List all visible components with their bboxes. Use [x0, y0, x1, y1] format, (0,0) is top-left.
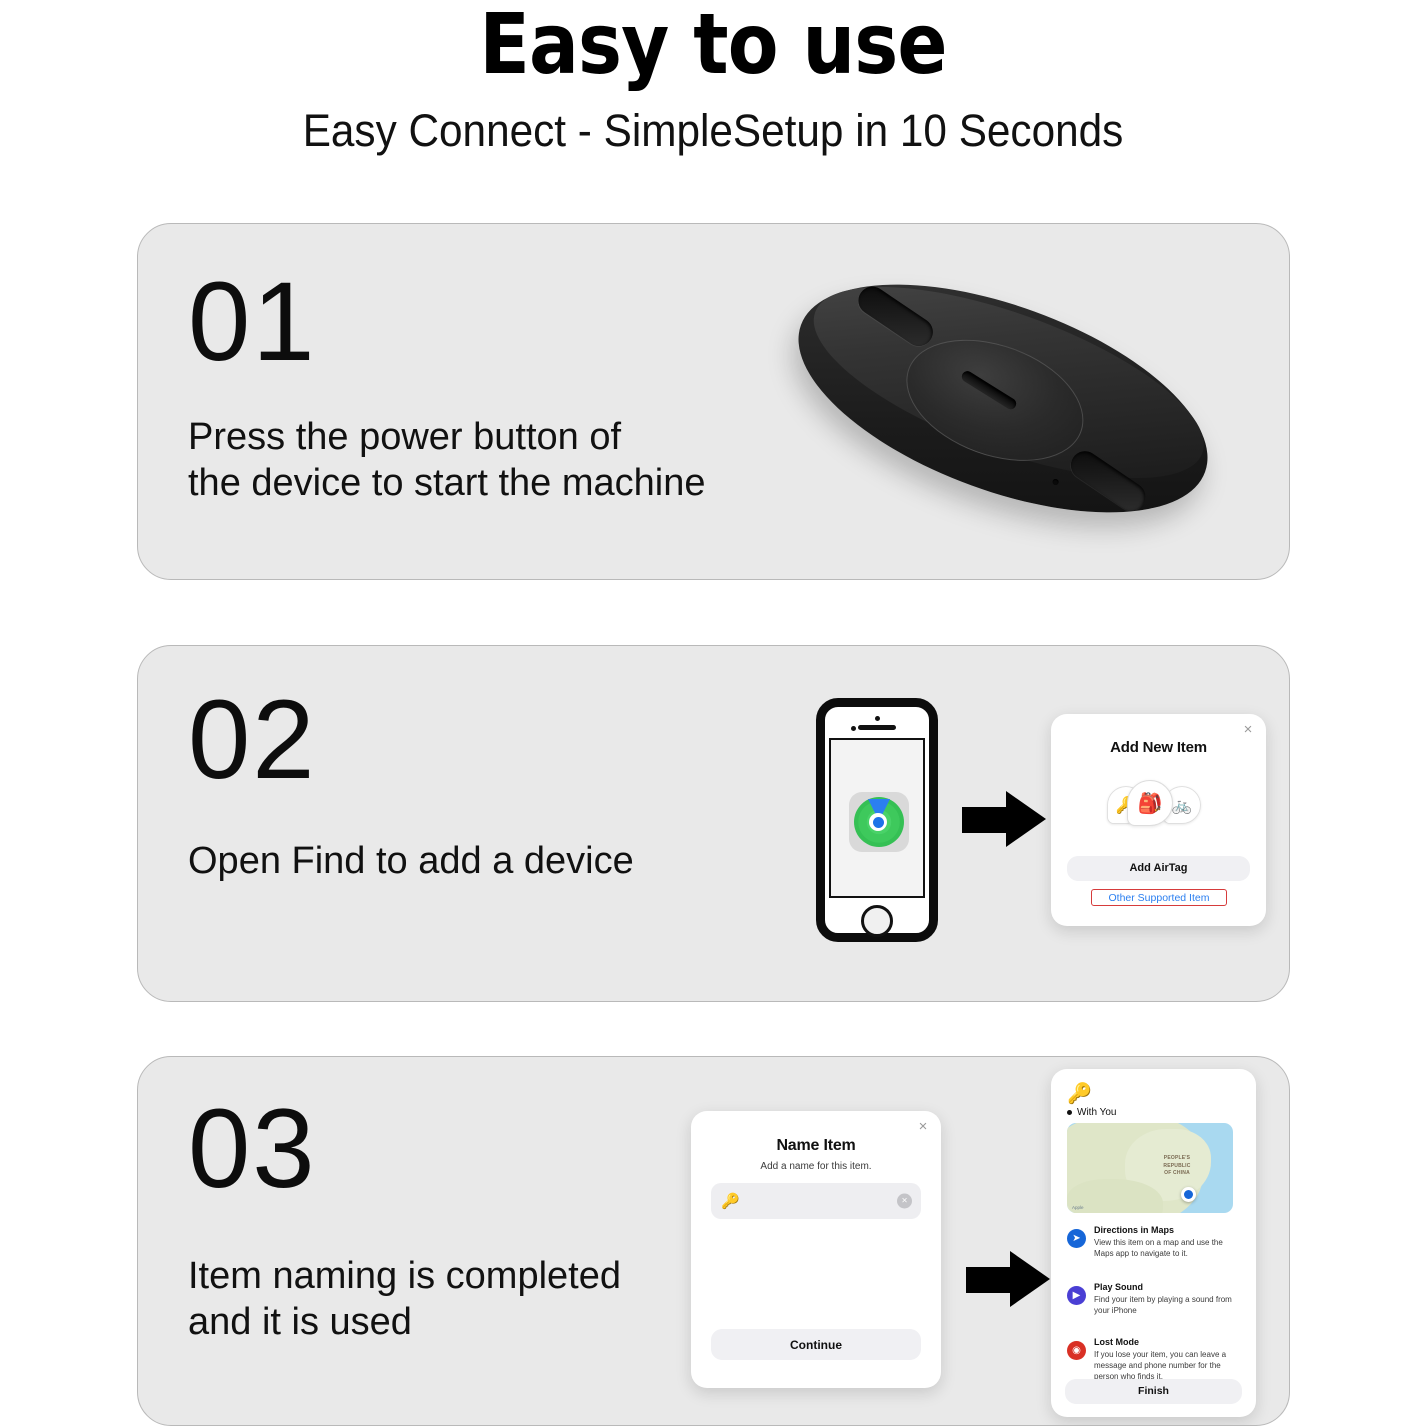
- page-subtitle: Easy Connect - SimpleSetup in 10 Seconds: [43, 86, 1383, 153]
- item-name-input[interactable]: 🔑 ×: [711, 1183, 921, 1219]
- step-number-3: 03: [188, 1093, 317, 1205]
- play-sound-icon: ▶: [1067, 1286, 1086, 1305]
- directions-icon: ➤: [1067, 1229, 1086, 1248]
- continue-button[interactable]: Continue: [711, 1329, 921, 1360]
- feature-title: Directions in Maps: [1094, 1225, 1174, 1235]
- arrow-step2: [962, 791, 1046, 847]
- feature-body: If you lose your item, you can leave a m…: [1094, 1349, 1242, 1382]
- status-dot-icon: [1067, 1110, 1072, 1115]
- close-icon[interactable]: ×: [1241, 723, 1255, 737]
- clear-input-icon[interactable]: ×: [897, 1194, 912, 1209]
- close-icon[interactable]: ×: [916, 1120, 930, 1134]
- phone-camera-icon: [875, 716, 880, 721]
- arrow-shaft: [962, 807, 1010, 833]
- phone-speaker-icon: [858, 725, 896, 730]
- feature-body: Find your item by playing a sound from y…: [1094, 1294, 1242, 1316]
- tracker-speaker-hole: [1052, 478, 1060, 486]
- page-root: Easy to use Easy Connect - SimpleSetup i…: [0, 0, 1426, 1426]
- phone-sensor-icon: [851, 726, 856, 731]
- step-number-1: 01: [188, 266, 317, 378]
- step-text-3: Item naming is completed and it is used: [188, 1253, 621, 1346]
- key-icon: 🔑: [721, 1192, 740, 1210]
- item-type-badges: 🔑 🎒 🚲: [1051, 780, 1266, 828]
- arrow-head: [1006, 791, 1046, 847]
- phone-mockup: [816, 698, 938, 942]
- tracker-slot-bottom: [1065, 446, 1150, 516]
- find-my-center-dot: [869, 813, 887, 831]
- phone-screen: [829, 738, 925, 898]
- arrow-step3: [966, 1251, 1050, 1307]
- map-location-pin: [1181, 1187, 1196, 1202]
- item-key-icon: 🔑: [1067, 1081, 1092, 1106]
- step-card-2: 02 Open Find to add a device × Add: [137, 645, 1290, 1002]
- step-card-1: 01 Press the power button of the device …: [137, 223, 1290, 580]
- item-status-label: With You: [1067, 1107, 1116, 1118]
- map-region-label: PEOPLE'S REPUBLIC OF CHINA: [1153, 1155, 1201, 1178]
- arrow-shaft: [966, 1267, 1014, 1293]
- name-item-sheet: × Name Item Add a name for this item. 🔑 …: [691, 1111, 941, 1388]
- phone-home-button[interactable]: [861, 905, 893, 937]
- backpack-badge-icon[interactable]: 🎒: [1127, 780, 1173, 826]
- tracker-slot-top: [853, 281, 938, 351]
- add-item-title: Add New Item: [1051, 739, 1266, 756]
- name-item-subtitle: Add a name for this item.: [691, 1161, 941, 1172]
- feature-title: Play Sound: [1094, 1282, 1143, 1292]
- finish-button[interactable]: Finish: [1065, 1379, 1242, 1404]
- name-item-title: Name Item: [691, 1137, 941, 1155]
- feature-title: Lost Mode: [1094, 1337, 1139, 1347]
- add-new-item-sheet: × Add New Item 🔑 🎒 🚲 Add AirTag Other Su…: [1051, 714, 1266, 926]
- arrow-head: [1010, 1251, 1050, 1307]
- step-text-1: Press the power button of the device to …: [188, 414, 706, 507]
- item-detail-sheet: 🔑 With You PEOPLE'S REPUBLIC OF CHINA Ap…: [1051, 1069, 1256, 1417]
- page-title: Easy to use: [86, 0, 1341, 86]
- tracker-device-illustration: [748, 234, 1268, 579]
- map-credit-label: Apple: [1072, 1205, 1084, 1210]
- item-location-map[interactable]: PEOPLE'S REPUBLIC OF CHINA Apple: [1067, 1123, 1233, 1213]
- step-card-3: 03 Item naming is completed and it is us…: [137, 1056, 1290, 1426]
- status-text: With You: [1077, 1107, 1116, 1118]
- tracker-body: [769, 238, 1236, 559]
- step-text-2: Open Find to add a device: [188, 838, 634, 884]
- lost-mode-icon: ◉: [1067, 1341, 1086, 1360]
- feature-body: View this item on a map and use the Maps…: [1094, 1237, 1242, 1259]
- other-supported-item-link[interactable]: Other Supported Item: [1091, 889, 1227, 906]
- step-number-2: 02: [188, 684, 317, 796]
- header: Easy to use Easy Connect - SimpleSetup i…: [0, 0, 1426, 153]
- add-airtag-button[interactable]: Add AirTag: [1067, 856, 1250, 881]
- find-my-app-icon[interactable]: [849, 792, 909, 852]
